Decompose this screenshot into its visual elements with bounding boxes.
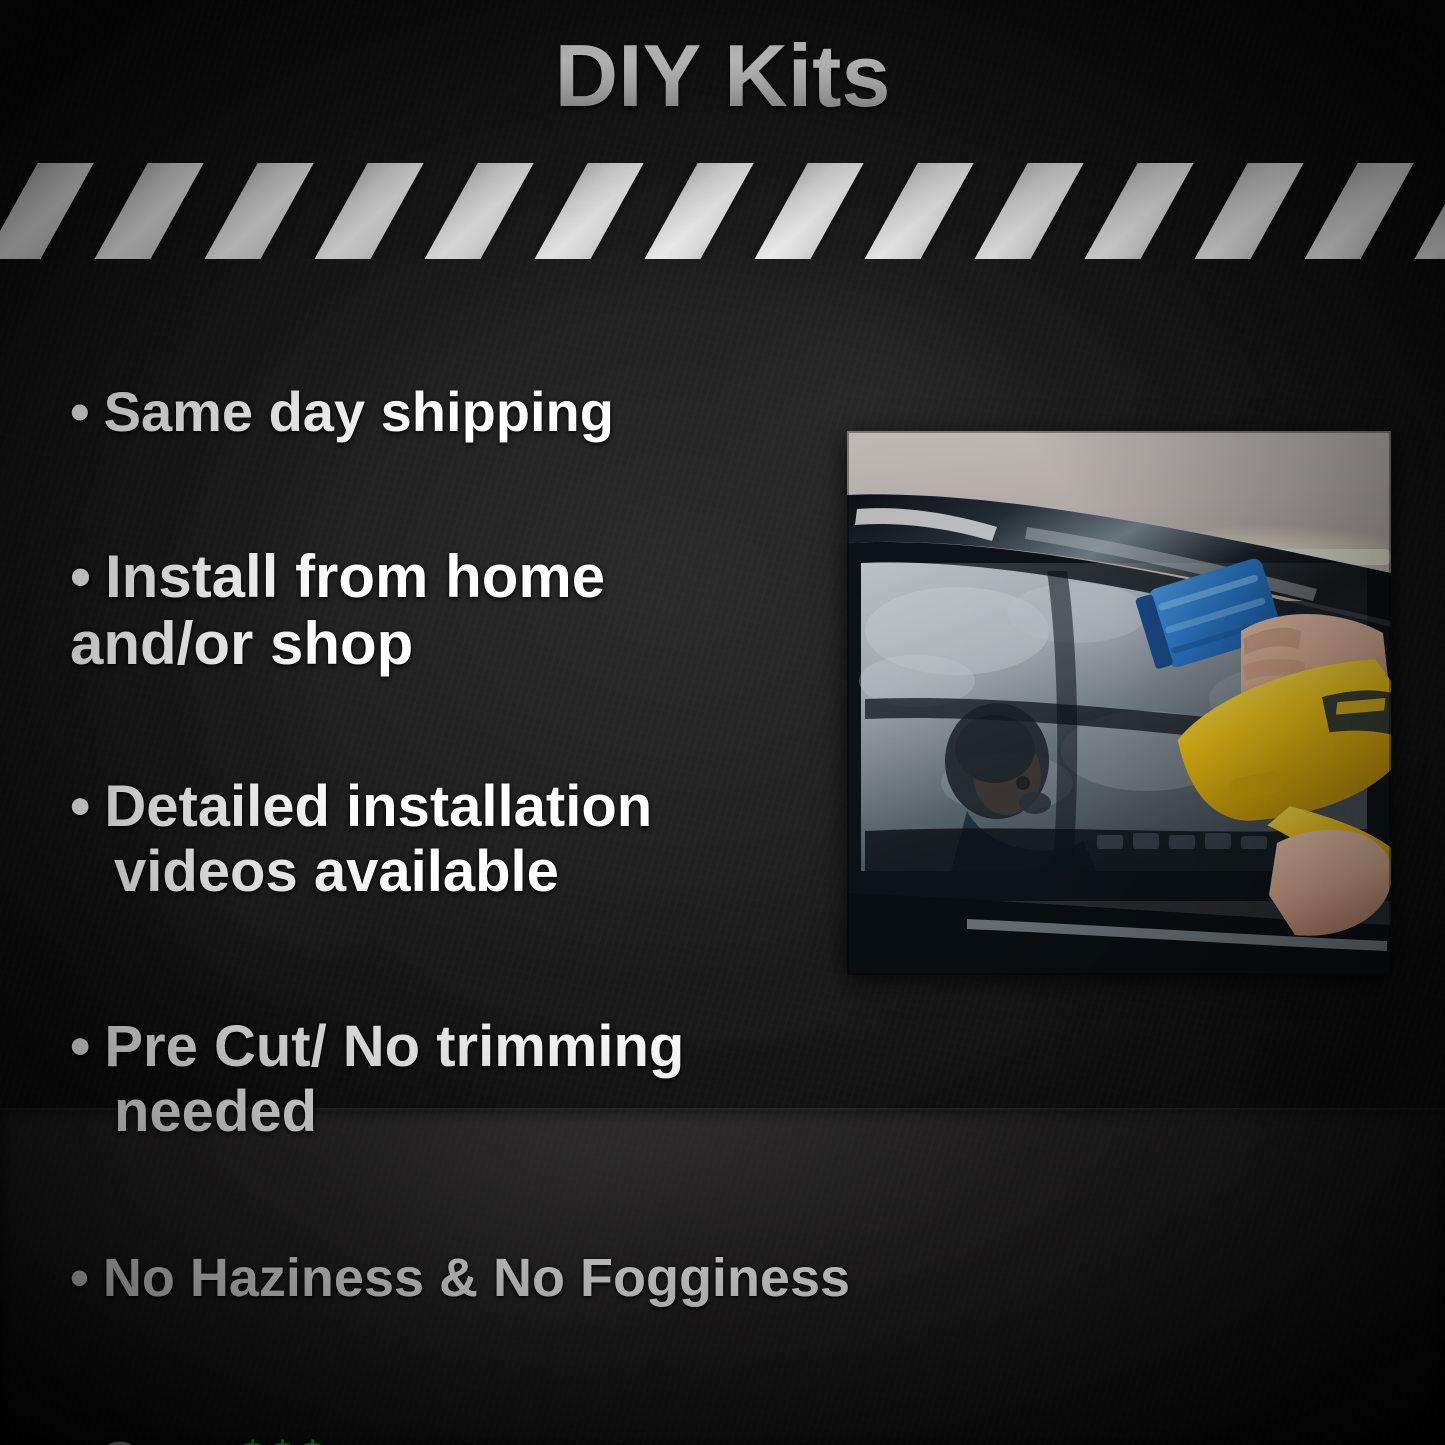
poster-canvas: DIY Kits •Same day shipping •Install fro… bbox=[0, 0, 1445, 1445]
vignette-overlay bbox=[0, 0, 1445, 1445]
